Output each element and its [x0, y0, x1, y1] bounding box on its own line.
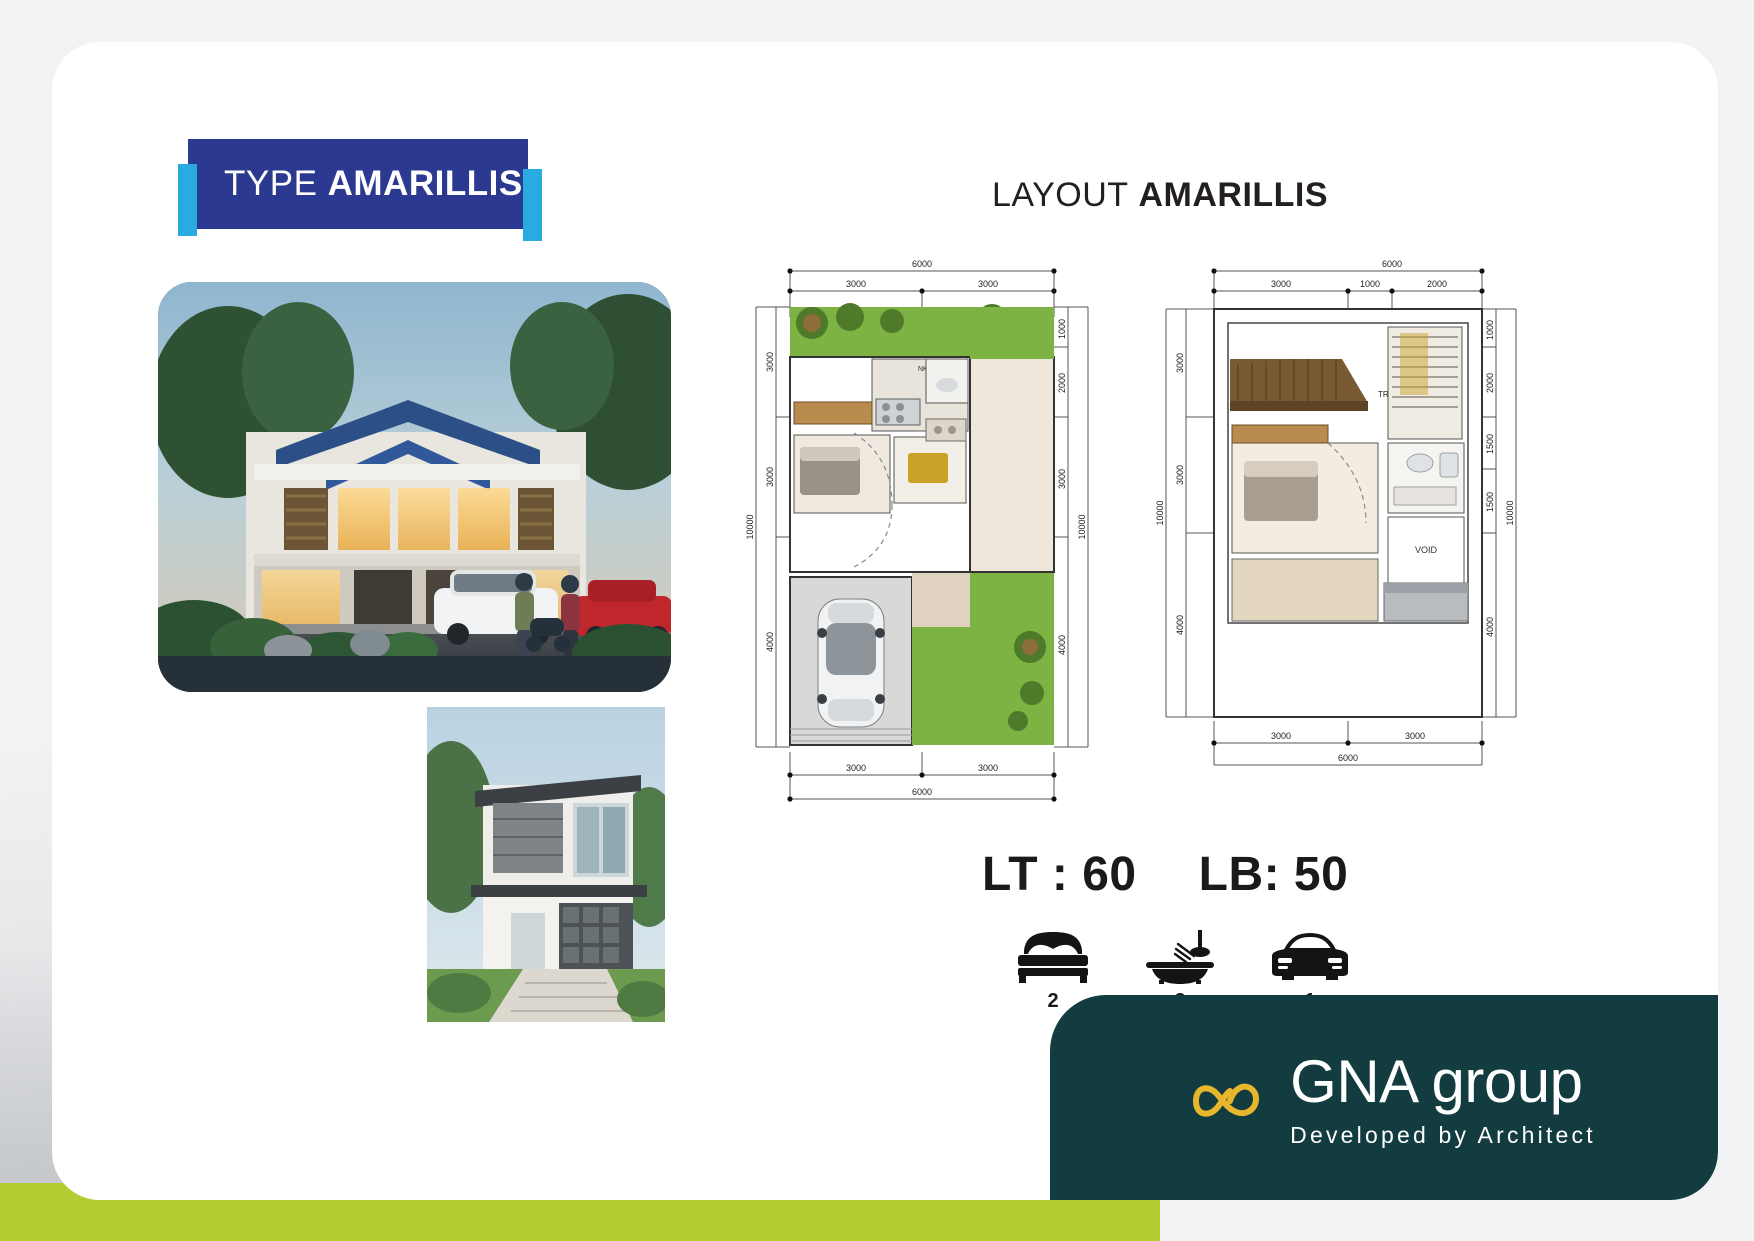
dim-bottom-seg-1: 3000: [846, 763, 866, 773]
brand-footer: GNA group Developed by Architect: [1050, 995, 1718, 1200]
bedroom-count: 2: [1047, 990, 1058, 1013]
dim-top-seg-3: 2000: [1427, 279, 1447, 289]
dim-bottom-seg-2: 3000: [1405, 731, 1425, 741]
dim-top-seg-2: 3000: [978, 279, 998, 289]
ground-floor-plan: 6000 3000 3000 10000 3000 3000: [742, 247, 1092, 827]
room-label-tr: TR: [1378, 390, 1389, 399]
layout-heading: LAYOUT AMARILLIS: [992, 176, 1328, 215]
dim-right-seg-3: 3000: [1057, 469, 1067, 489]
brand-name: GNA group: [1290, 1052, 1596, 1112]
dim-left-total: 10000: [745, 514, 755, 539]
dim-left-seg-2: 3000: [1175, 465, 1185, 485]
dim-right-total: 10000: [1505, 500, 1515, 525]
bath-icon: [1144, 928, 1216, 984]
type-badge: TYPE AMARILLIS: [188, 139, 528, 229]
dim-left-total: 10000: [1155, 500, 1165, 525]
type-badge-text: TYPE AMARILLIS: [188, 164, 523, 204]
specs-block: LT : 60 LB: 50 2: [972, 847, 1452, 1013]
dim-top-seg-1: 3000: [846, 279, 866, 289]
gna-infinity-logo-icon: [1172, 1071, 1268, 1131]
dim-left-seg-3: 4000: [765, 632, 775, 652]
facade-photo: [427, 707, 665, 1022]
dim-right-seg-2: 2000: [1485, 373, 1495, 393]
layout-heading-name: AMARILLIS: [1138, 176, 1328, 214]
dim-left-seg-1: 3000: [1175, 353, 1185, 373]
dim-top-seg-2: 1000: [1360, 279, 1380, 289]
dim-right-seg-4: 4000: [1057, 635, 1067, 655]
dim-top-total: 6000: [1382, 259, 1402, 269]
dim-top-total: 6000: [912, 259, 932, 269]
dim-left-seg-1: 3000: [765, 352, 775, 372]
dim-left-seg-3: 4000: [1175, 615, 1185, 635]
dim-right-seg-4: 1500: [1485, 492, 1495, 512]
badge-accent-right: [523, 169, 542, 241]
dim-right-seg-1: 1000: [1057, 319, 1067, 339]
room-label-void: VOID: [1415, 545, 1438, 555]
dim-right-seg-2: 2000: [1057, 373, 1067, 393]
bed-icon: [1014, 928, 1092, 984]
dim-left-seg-2: 3000: [765, 467, 775, 487]
dim-right-seg-5: 4000: [1485, 617, 1495, 637]
brand-tagline: Developed by Architect: [1290, 1122, 1596, 1149]
car-icon: [1268, 932, 1352, 984]
area-values: LT : 60 LB: 50: [972, 847, 1452, 902]
dim-bottom-total: 6000: [912, 787, 932, 797]
dim-bottom-seg-2: 3000: [978, 763, 998, 773]
dim-right-seg-1: 1000: [1485, 320, 1495, 340]
land-area-value: LT : 60: [982, 847, 1137, 902]
hero-render-image: [158, 282, 671, 692]
dim-bottom-seg-1: 3000: [1271, 731, 1291, 741]
first-floor-plan: 6000 3000 1000 2000 10000 3000: [1152, 247, 1522, 787]
building-area-value: LB: 50: [1199, 847, 1349, 902]
type-badge-prefix: TYPE: [224, 164, 317, 203]
content-card: TYPE AMARILLIS LAYOUT AMARILLIS: [52, 42, 1718, 1200]
type-badge-name: AMARILLIS: [328, 164, 523, 203]
dim-bottom-total: 6000: [1338, 753, 1358, 763]
dim-right-total: 10000: [1077, 514, 1087, 539]
dim-right-seg-3: 1500: [1485, 434, 1495, 454]
layout-heading-prefix: LAYOUT: [992, 176, 1129, 214]
poster-root: TYPE AMARILLIS LAYOUT AMARILLIS: [0, 0, 1754, 1241]
dim-top-seg-1: 3000: [1271, 279, 1291, 289]
